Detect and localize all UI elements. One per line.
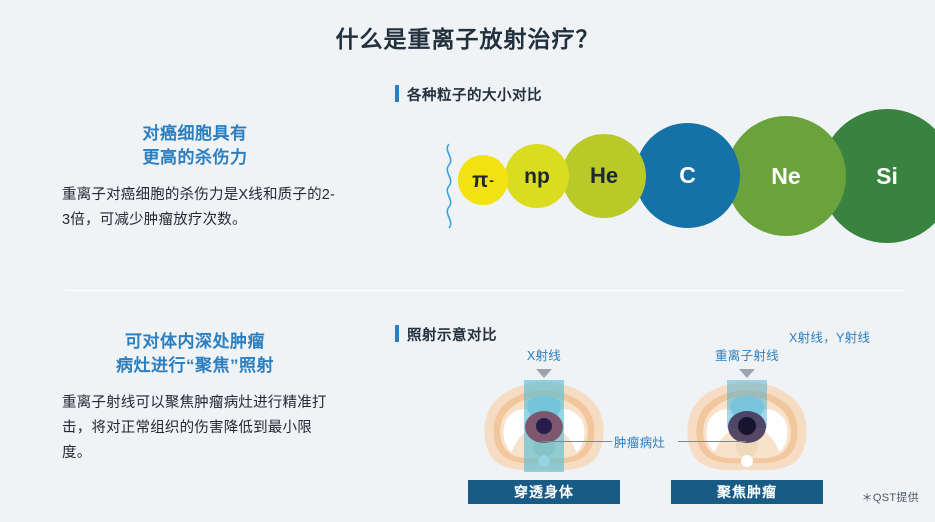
left-body-2: 重离子射线可以聚焦肿瘤病灶进行精准打击，将对正常组织的伤害降低到最小限度。 <box>40 391 350 466</box>
left-heading-2-line2: 病灶进行“聚焦”照射 <box>40 354 350 378</box>
wave-ray-icon <box>438 142 460 232</box>
left-heading-2: 可对体内深处肿瘤 病灶进行“聚焦”照射 <box>40 330 350 378</box>
left-heading-1-line2: 更高的杀伤力 <box>40 146 350 170</box>
irradiation-panel-xray: X射线 <box>468 345 620 504</box>
left-body-1: 重离子对癌细胞的杀伤力是X线和质子的2-3倍，可减少肿瘤放疗次数。 <box>40 183 350 233</box>
particle-circle-c: C <box>635 123 740 228</box>
particle-label-pi: π <box>472 170 488 191</box>
beam-title-heavy-ion: 重离子射线 <box>671 345 823 364</box>
irradiation-panel-heavy-ion: 重离子射线 聚焦肿瘤 <box>671 345 823 504</box>
particle-circle-ne: Ne <box>726 116 846 236</box>
section-divider <box>66 290 906 291</box>
particle-label-np: np <box>524 166 550 187</box>
body-cross-section-xray <box>468 380 620 472</box>
tumor-leader-line-right <box>678 441 746 442</box>
beam-arrow-down-icon <box>536 369 552 378</box>
pelvis-diagram-heavy-ion-icon <box>671 380 823 472</box>
particle-circle-pi: π- <box>458 155 508 205</box>
left-block-killing-power: 对癌细胞具有 更高的杀伤力 重离子对癌细胞的杀伤力是X线和质子的2-3倍，可减少… <box>40 122 350 233</box>
left-block-focus: 可对体内深处肿瘤 病灶进行“聚焦”照射 重离子射线可以聚焦肿瘤病灶进行精准打击，… <box>40 330 350 466</box>
tumor-lesion-label: 肿瘤病灶 <box>614 432 665 451</box>
left-heading-1-line1: 对癌细胞具有 <box>40 122 350 146</box>
particle-circle-np: np <box>505 144 569 208</box>
credit-text: ＊QST提供 <box>862 489 919 505</box>
body-cross-section-heavy-ion <box>671 380 823 472</box>
beam-arrow-down-icon-2 <box>739 369 755 378</box>
particle-label-si: Si <box>876 165 898 188</box>
particle-label-pi-superscript: - <box>489 173 494 187</box>
panel-caption-penetrate-body: 穿透身体 <box>468 480 620 504</box>
slide-root: 什么是重离子放射治疗？ 对癌细胞具有 更高的杀伤力 重离子对癌细胞的杀伤力是X线… <box>0 0 935 522</box>
panel-caption-focus-tumor: 聚焦肿瘤 <box>671 480 823 504</box>
left-heading-2-line1: 可对体内深处肿瘤 <box>40 330 350 354</box>
tumor-leader-line-left <box>542 441 612 442</box>
section-header-irradiation: 照射示意对比 <box>395 324 497 345</box>
page-title: 什么是重离子放射治疗？ <box>0 20 935 54</box>
pelvis-diagram-xray-icon <box>468 380 620 472</box>
particle-label-he: He <box>590 165 618 187</box>
particle-circle-he: He <box>562 134 646 218</box>
particle-label-ne: Ne <box>771 165 800 188</box>
particle-label-c: C <box>679 164 696 187</box>
left-heading-1: 对癌细胞具有 更高的杀伤力 <box>40 122 350 170</box>
xray-gamma-label: X射线，Y射线 <box>789 327 870 346</box>
particle-size-diagram: Ar Si Ne C He np π- 重离子癌症治疗所使用的粒子 X射线，Y射… <box>390 100 900 280</box>
beam-title-xray: X射线 <box>468 345 620 364</box>
